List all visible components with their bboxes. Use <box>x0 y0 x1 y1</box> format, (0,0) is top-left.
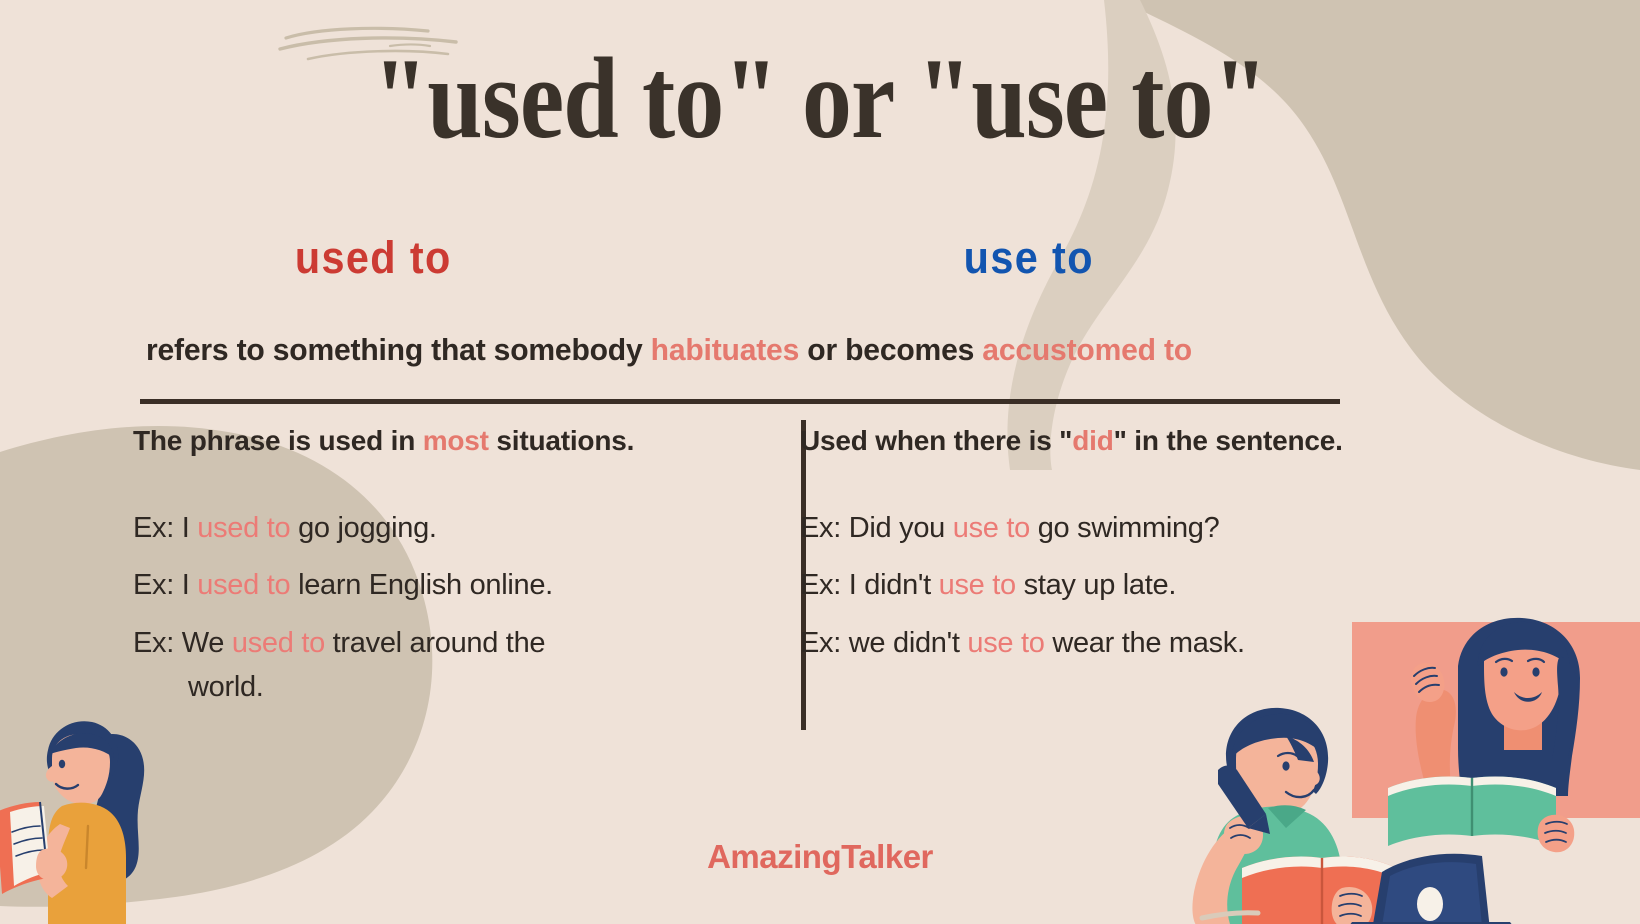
right-column-title: Used when there is "did" in the sentence… <box>800 425 1500 457</box>
woman-eye-left <box>1500 667 1507 676</box>
left-column-title: The phrase is used in most situations. <box>133 425 773 457</box>
left-title-highlight: most <box>423 425 489 456</box>
example-pre: Ex: we didn't <box>800 627 967 659</box>
example-item: Ex: I used to learn English online. <box>133 570 773 600</box>
right-title-part2: " in the sentence. <box>1114 425 1343 456</box>
example-item: Ex: I didn't use to stay up late. <box>800 570 1500 600</box>
infographic-canvas: "used to" or "use to" used to use to ref… <box>0 0 1640 924</box>
definition-subtitle: refers to something that somebody habitu… <box>146 332 1310 368</box>
laptop-camera-dot <box>1417 887 1443 921</box>
column-header-use-to: use to <box>964 232 1094 284</box>
right-title-part1: Used when there is " <box>800 425 1072 456</box>
example-highlight: use to <box>939 569 1016 601</box>
eye <box>59 760 65 768</box>
right-title-highlight: did <box>1072 425 1113 456</box>
example-post: go jogging. <box>290 512 436 544</box>
column-used-to: The phrase is used in most situations. E… <box>133 425 773 730</box>
example-pre: Ex: I <box>133 512 197 544</box>
left-title-part1: The phrase is used in <box>133 425 423 456</box>
left-title-part2: situations. <box>489 425 634 456</box>
column-header-used-to: used to <box>295 232 452 284</box>
example-post: go swimming? <box>1030 512 1220 544</box>
example-post: learn English online. <box>290 569 553 601</box>
example-item: Ex: I used to go jogging. <box>133 513 773 543</box>
example-pre: Ex: Did you <box>800 512 953 544</box>
example-post: stay up late. <box>1016 569 1176 601</box>
boy-eye <box>1282 761 1289 770</box>
example-highlight: used to <box>197 512 290 544</box>
subtitle-part1: refers to something that somebody <box>146 332 651 367</box>
woman-eye-right <box>1532 667 1539 676</box>
example-continuation: world. <box>133 672 773 702</box>
example-highlight: used to <box>232 627 325 659</box>
example-pre: Ex: We <box>133 627 232 659</box>
girl-reading-illustration <box>0 700 220 924</box>
example-highlight: used to <box>197 569 290 601</box>
example-pre: Ex: I <box>133 569 197 601</box>
horizontal-divider <box>140 399 1340 404</box>
example-item: Ex: Did you use to go swimming? <box>800 513 1500 543</box>
subtitle-part2: or becomes <box>799 332 982 367</box>
example-post: travel around the <box>325 627 545 659</box>
example-pre: Ex: I didn't <box>800 569 939 601</box>
subtitle-highlight-habituates: habituates <box>651 332 799 367</box>
subtitle-highlight-accustomed: accustomed to <box>982 332 1192 367</box>
page-title: "used to" or "use to" <box>115 36 1525 164</box>
example-highlight: use to <box>967 627 1044 659</box>
example-item: Ex: We used to travel around theworld. <box>133 628 773 703</box>
example-highlight: use to <box>953 512 1030 544</box>
brand-logo-text: AmazingTalker <box>0 838 1640 876</box>
